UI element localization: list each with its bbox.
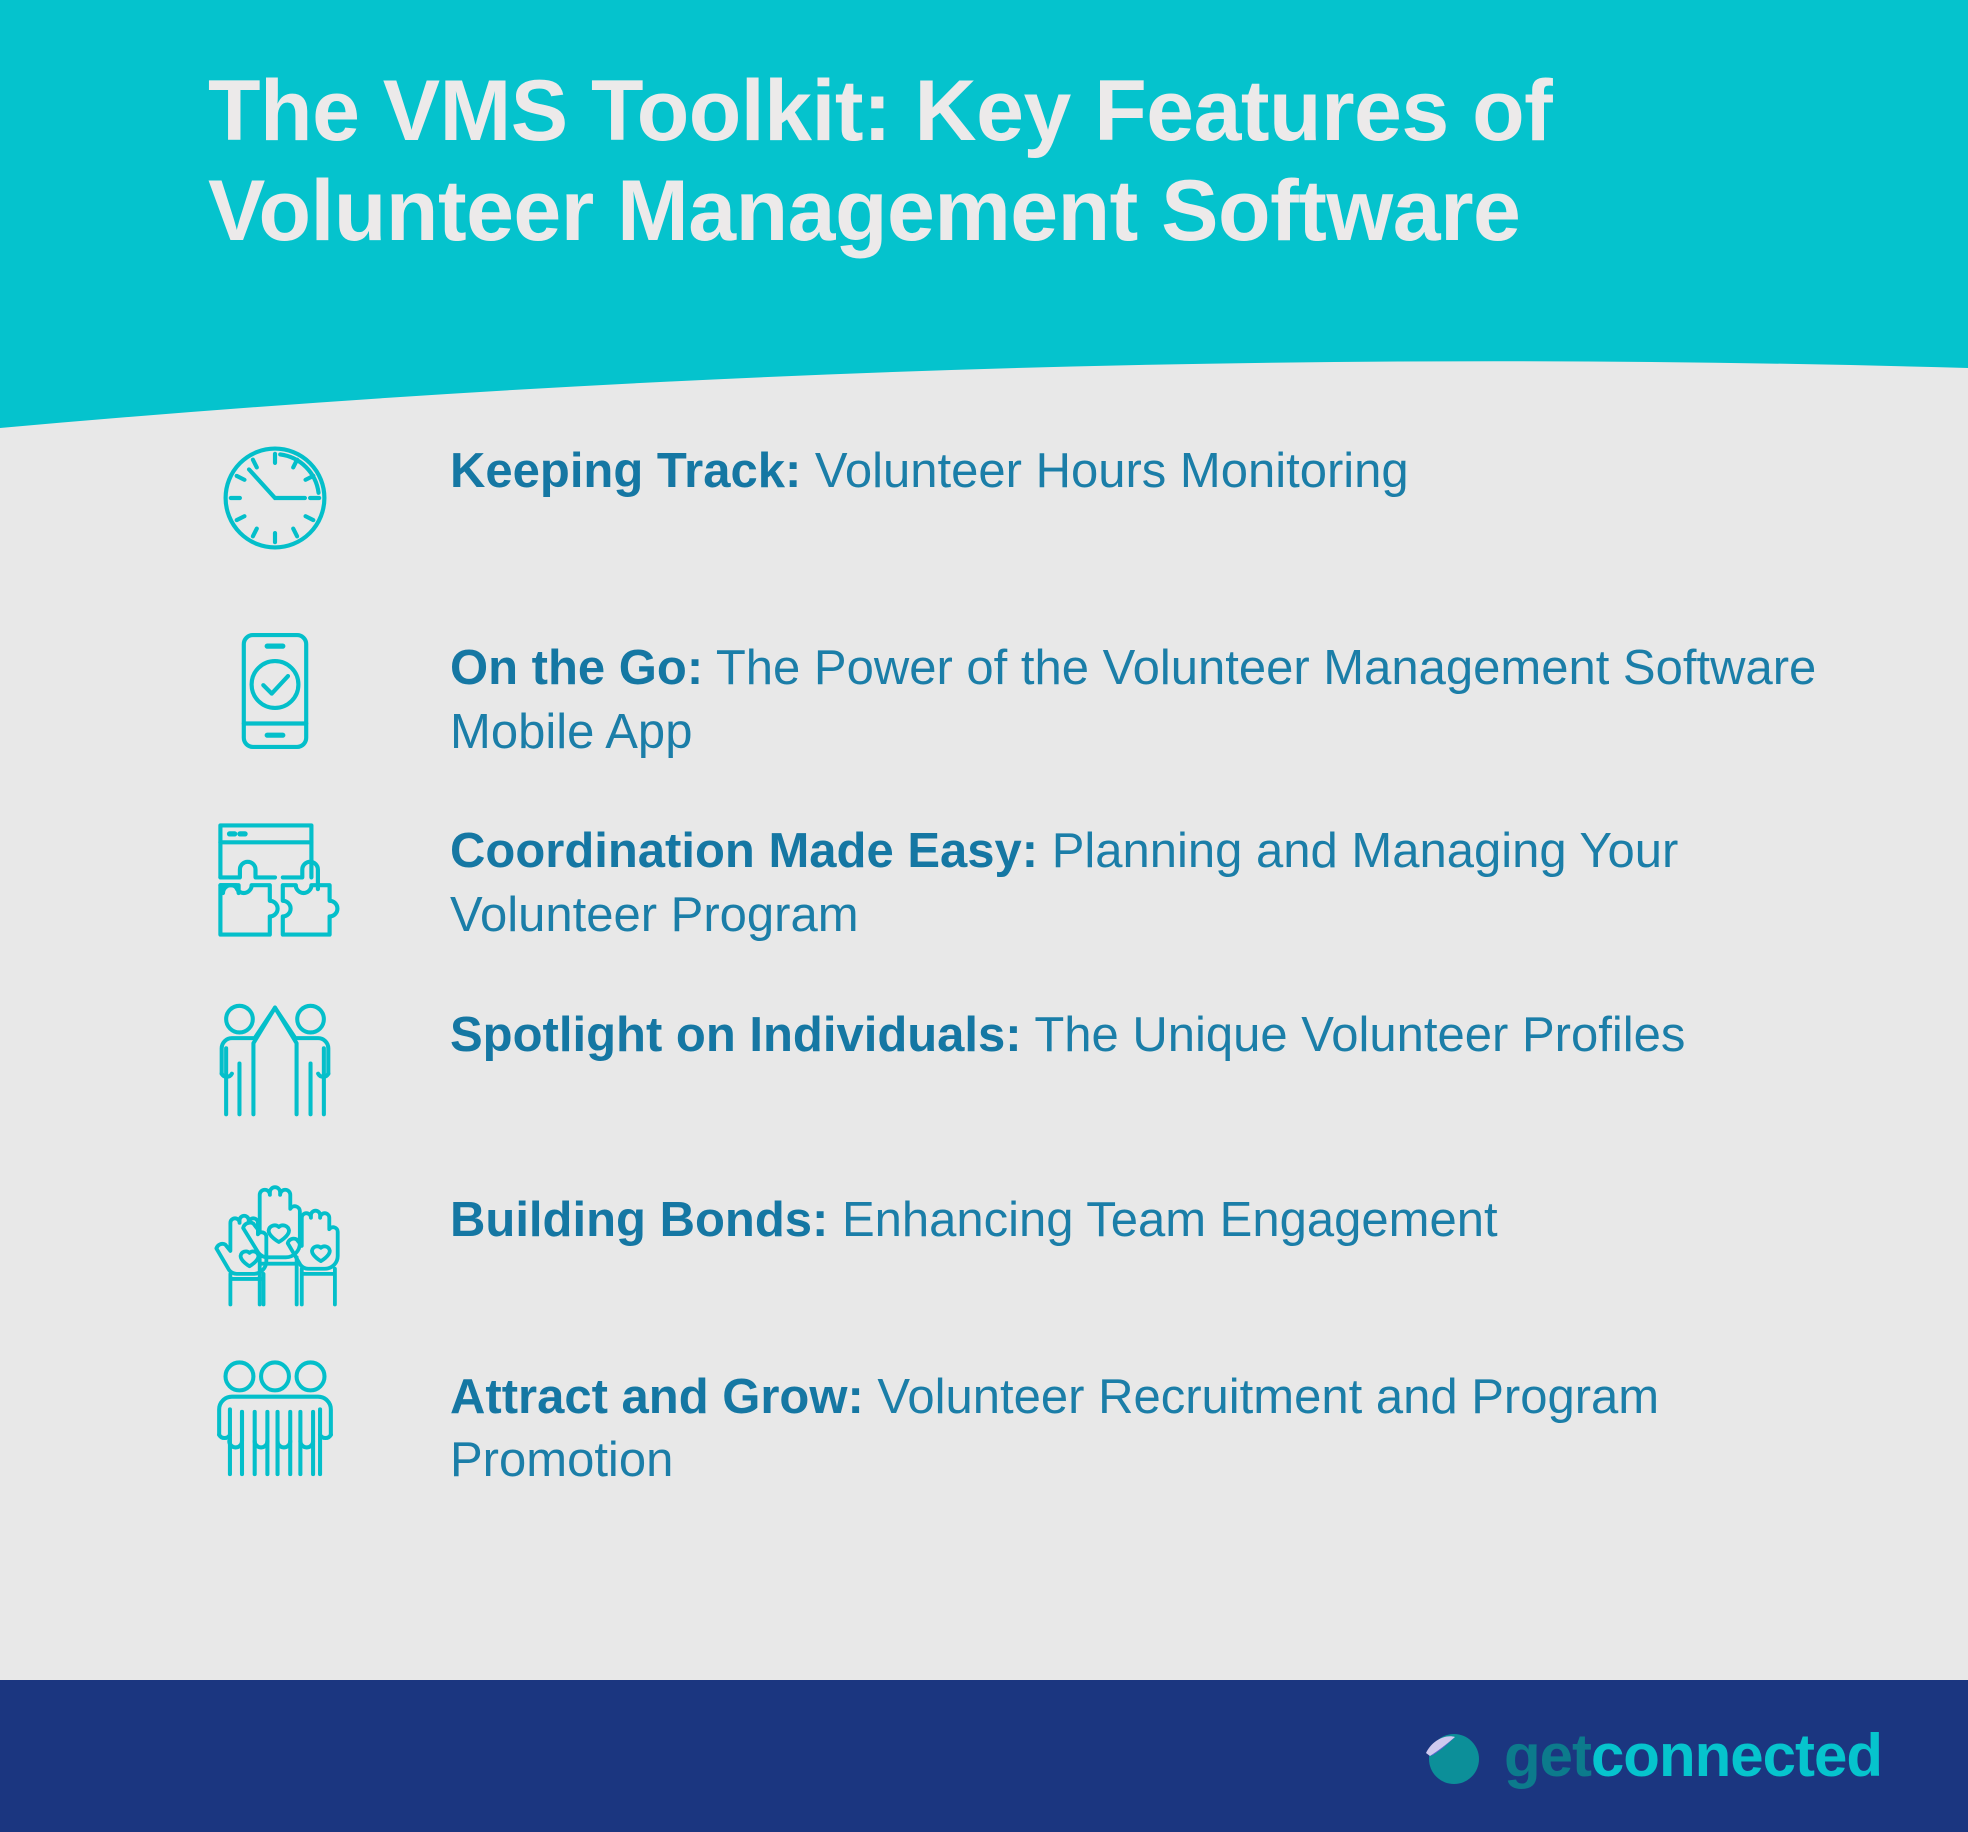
feature-rest: The Unique Volunteer Profiles [1022, 1008, 1686, 1062]
raised-hands-hearts-icon [200, 1175, 350, 1310]
feature-item-spotlight: Spotlight on Individuals: The Unique Vol… [0, 994, 1968, 1129]
feature-text: Spotlight on Individuals: The Unique Vol… [350, 994, 1968, 1068]
feature-rest: Enhancing Team Engagement [828, 1193, 1497, 1247]
feature-item-building-bonds: Building Bonds: Enhancing Team Engagemen… [0, 1175, 1968, 1310]
getconnected-logo[interactable]: getconnected [1420, 1723, 1882, 1789]
feature-text: Building Bonds: Enhancing Team Engagemen… [350, 1175, 1968, 1253]
infographic-canvas: The VMS Toolkit: Key Features of Volunte… [0, 0, 1968, 1832]
feature-rest: Volunteer Hours Monitoring [801, 444, 1408, 498]
feature-lead: Building Bonds: [450, 1193, 828, 1247]
feature-text: Coordination Made Easy: Planning and Man… [350, 812, 1968, 947]
logo-word-connected: connected [1591, 1722, 1882, 1789]
feature-item-coordination: Coordination Made Easy: Planning and Man… [0, 812, 1968, 947]
feature-lead: On the Go: [450, 641, 703, 695]
logo-word-get: get [1504, 1722, 1591, 1789]
feature-lead: Attract and Grow: [450, 1370, 864, 1424]
feature-text: Attract and Grow: Volunteer Recruitment … [350, 1350, 1968, 1493]
getconnected-logo-mark [1420, 1723, 1486, 1789]
feature-lead: Keeping Track: [450, 444, 801, 498]
mobile-check-icon [200, 623, 350, 758]
feature-lead: Spotlight on Individuals: [450, 1008, 1022, 1062]
two-people-highfive-icon [200, 994, 350, 1129]
footer-bar: getconnected [0, 1680, 1968, 1832]
group-people-icon [200, 1350, 350, 1485]
header-banner: The VMS Toolkit: Key Features of Volunte… [0, 0, 1968, 440]
clock-icon [200, 430, 350, 565]
feature-list: Keeping Track: Volunteer Hours Monitorin… [0, 430, 1968, 1493]
feature-lead: Coordination Made Easy: [450, 824, 1038, 878]
feature-text: Keeping Track: Volunteer Hours Monitorin… [350, 430, 1968, 504]
browser-puzzle-icon [200, 812, 350, 947]
feature-item-on-the-go: On the Go: The Power of the Volunteer Ma… [0, 623, 1968, 764]
feature-item-keeping-track: Keeping Track: Volunteer Hours Monitorin… [0, 430, 1968, 565]
logo-wordmark: getconnected [1504, 1726, 1882, 1786]
feature-item-attract-grow: Attract and Grow: Volunteer Recruitment … [0, 1350, 1968, 1493]
feature-text: On the Go: The Power of the Volunteer Ma… [350, 623, 1968, 764]
page-title: The VMS Toolkit: Key Features of Volunte… [208, 62, 1828, 262]
